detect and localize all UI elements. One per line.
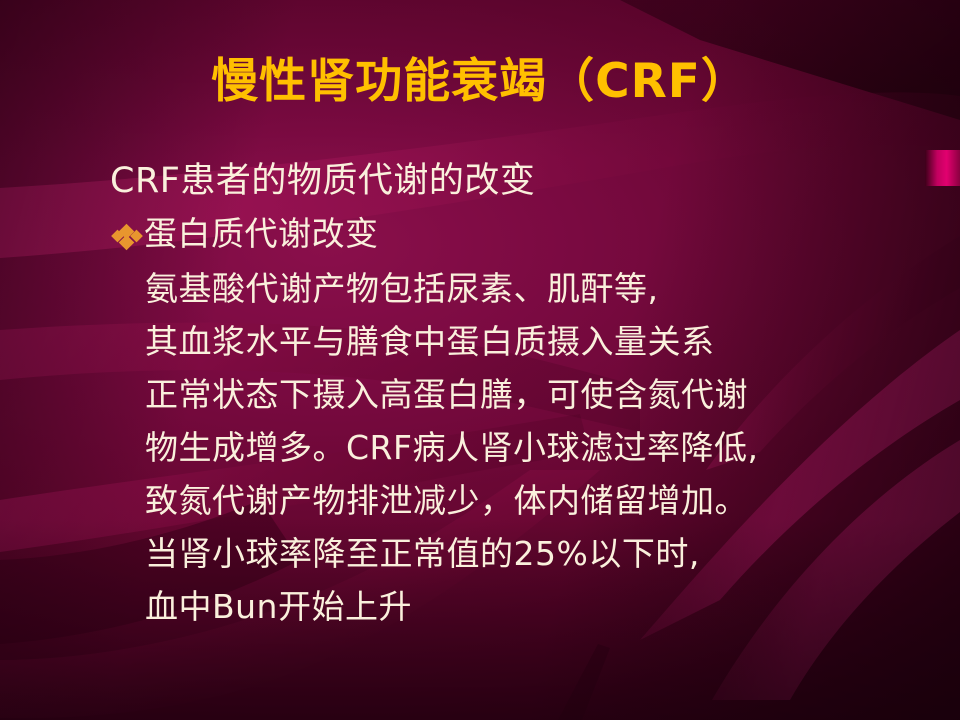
slide-title: 慢性肾功能衰竭（CRF）	[0, 56, 960, 108]
body-line: 致氮代谢产物排泄减少，体内储留增加。	[145, 474, 940, 527]
body-heading: CRF患者的物质代谢的改变	[110, 158, 940, 204]
body-line: 血中Bun开始上升	[145, 580, 940, 633]
body-line: 其血浆水平与膳食中蛋白质摄入量关系	[145, 315, 940, 368]
slide-body: CRF患者的物质代谢的改变 蛋白质代谢改变 氨基酸代谢产物包括尿素、肌酐等, 其…	[110, 158, 940, 633]
body-line: 氨基酸代谢产物包括尿素、肌酐等,	[145, 262, 940, 315]
diamond-cluster-bullet-icon	[110, 220, 144, 256]
bullet-item-label: 蛋白质代谢改变	[144, 214, 379, 254]
body-line: 当肾小球率降至正常值的25%以下时,	[145, 527, 940, 580]
bullet-sub-lines: 氨基酸代谢产物包括尿素、肌酐等, 其血浆水平与膳食中蛋白质摄入量关系 正常状态下…	[110, 262, 940, 633]
body-line: 物生成增多。CRF病人肾小球滤过率降低,	[145, 421, 940, 474]
bullet-item: 蛋白质代谢改变	[110, 214, 940, 254]
presentation-slide: 慢性肾功能衰竭（CRF） CRF患者的物质代谢的改变 蛋白质代谢改变 氨基酸代谢…	[0, 0, 960, 720]
body-line: 正常状态下摄入高蛋白膳，可使含氮代谢	[145, 368, 940, 421]
